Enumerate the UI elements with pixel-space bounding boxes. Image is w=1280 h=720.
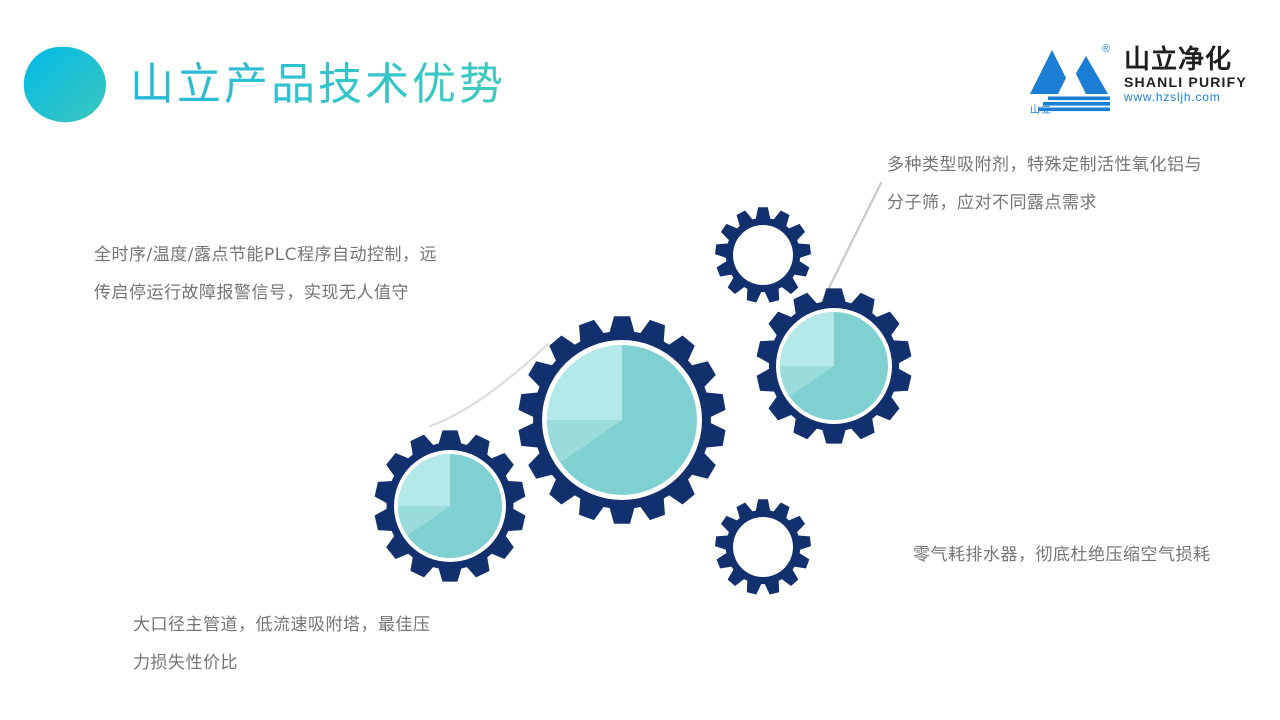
slide-canvas: 山立产品技术优势 ® 山立 山立净化 SHANLI PURIFY www.hzs…: [0, 0, 1280, 720]
logo-mark-label: 山立: [1030, 101, 1052, 116]
gear-bottom-small: [715, 499, 811, 594]
brand-logo: ® 山立 山立净化 SHANLI PURIFY www.hzsljh.com: [1026, 42, 1258, 118]
leader-line-top-right: [812, 183, 881, 322]
callout-bottom-right: 零气耗排水器，彻底杜绝压缩空气损耗: [913, 536, 1233, 574]
title-decorative-blob: [22, 46, 108, 124]
logo-name-en: SHANLI PURIFY: [1124, 74, 1258, 90]
registered-trademark-icon: ®: [1102, 44, 1110, 55]
gear-lower-left: [375, 430, 526, 581]
leader-line-top-left: [430, 344, 548, 426]
logo-wordmark: 山立净化 SHANLI PURIFY www.hzsljh.com: [1124, 46, 1258, 105]
callout-bottom-left: 大口径主管道，低流速吸附塔，最佳压力损失性价比: [133, 606, 443, 682]
callout-top-left: 全时序/温度/露点节能PLC程序自动控制，远传启停运行故障报警信号，实现无人值守: [94, 236, 444, 312]
page-title: 山立产品技术优势: [130, 56, 506, 114]
gear-top-small: [715, 207, 811, 302]
gear-right: [757, 288, 912, 443]
gear-main: [519, 316, 726, 523]
logo-website: www.hzsljh.com: [1124, 90, 1258, 105]
logo-name-cn: 山立净化: [1124, 46, 1258, 74]
callout-top-right: 多种类型吸附剂，特殊定制活性氧化铝与分子筛，应对不同露点需求: [887, 146, 1207, 222]
